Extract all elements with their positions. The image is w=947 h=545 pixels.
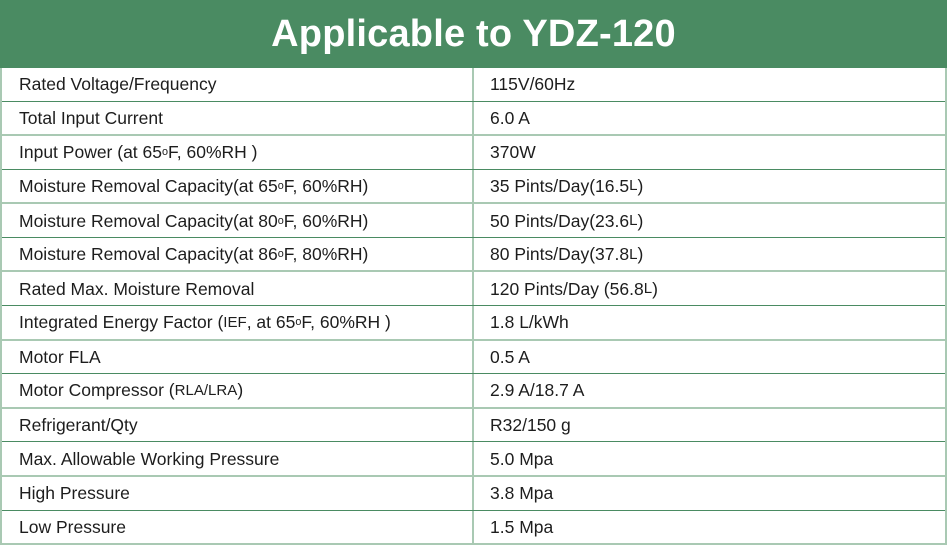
spec-value-cell: 35 Pints/Day(16.5 L) [474,170,945,203]
table-row: Low Pressure1.5 Mpa [2,511,945,544]
table-row: Total Input Current6.0 A [2,102,945,137]
spec-value-cell: 80 Pints/Day(37.8 L) [474,238,945,271]
spec-label-cell: High Pressure [2,477,474,510]
spec-label-cell: Refrigerant/Qty [2,409,474,442]
table-row: Integrated Energy Factor (IEF, at 65oF, … [2,306,945,341]
spec-label-cell: Motor FLA [2,341,474,374]
table-row: Motor FLA0.5 A [2,341,945,375]
spec-label-cell: Low Pressure [2,511,474,544]
table-row: Refrigerant/QtyR32/150 g [2,409,945,443]
table-body: Rated Voltage/Frequency115V/60HzTotal In… [0,68,947,545]
spec-label-cell: Rated Max. Moisture Removal [2,272,474,305]
table-row: Moisture Removal Capacity(at 86oF, 80%RH… [2,238,945,273]
table-row: Moisture Removal Capacity(at 80oF, 60%RH… [2,204,945,238]
spec-value-cell: 2.9 A/18.7 A [474,374,945,407]
spec-value-cell: R32/150 g [474,409,945,442]
spec-value-cell: 1.5 Mpa [474,511,945,544]
spec-label-cell: Total Input Current [2,102,474,135]
specification-table: Applicable to YDZ-120 Rated Voltage/Freq… [0,0,947,545]
spec-label-cell: Integrated Energy Factor (IEF, at 65oF, … [2,306,474,339]
spec-label-cell: Max. Allowable Working Pressure [2,442,474,475]
table-row: Input Power (at 65oF, 60%RH )370W [2,136,945,170]
table-row: Rated Max. Moisture Removal120 Pints/Day… [2,272,945,306]
spec-label-cell: Motor Compressor (RLA/LRA) [2,374,474,407]
spec-value-cell: 5.0 Mpa [474,442,945,475]
spec-value-cell: 1.8 L/kWh [474,306,945,339]
spec-value-cell: 50 Pints/Day(23.6 L) [474,204,945,237]
table-row: Rated Voltage/Frequency115V/60Hz [2,68,945,102]
spec-label-cell: Input Power (at 65oF, 60%RH ) [2,136,474,169]
spec-value-cell: 3.8 Mpa [474,477,945,510]
spec-label-cell: Moisture Removal Capacity(at 80oF, 60%RH… [2,204,474,237]
spec-value-cell: 6.0 A [474,102,945,135]
spec-label-cell: Moisture Removal Capacity(at 65oF, 60%RH… [2,170,474,203]
table-header-banner: Applicable to YDZ-120 [0,0,947,68]
spec-value-cell: 0.5 A [474,341,945,374]
page-title: Applicable to YDZ-120 [271,15,676,53]
spec-value-cell: 115V/60Hz [474,68,945,101]
spec-value-cell: 370W [474,136,945,169]
spec-value-cell: 120 Pints/Day (56.8 L) [474,272,945,305]
table-row: High Pressure3.8 Mpa [2,477,945,511]
table-row: Motor Compressor (RLA/LRA)2.9 A/18.7 A [2,374,945,409]
spec-label-cell: Moisture Removal Capacity(at 86oF, 80%RH… [2,238,474,271]
spec-label-cell: Rated Voltage/Frequency [2,68,474,101]
table-row: Max. Allowable Working Pressure5.0 Mpa [2,442,945,477]
table-row: Moisture Removal Capacity(at 65oF, 60%RH… [2,170,945,205]
